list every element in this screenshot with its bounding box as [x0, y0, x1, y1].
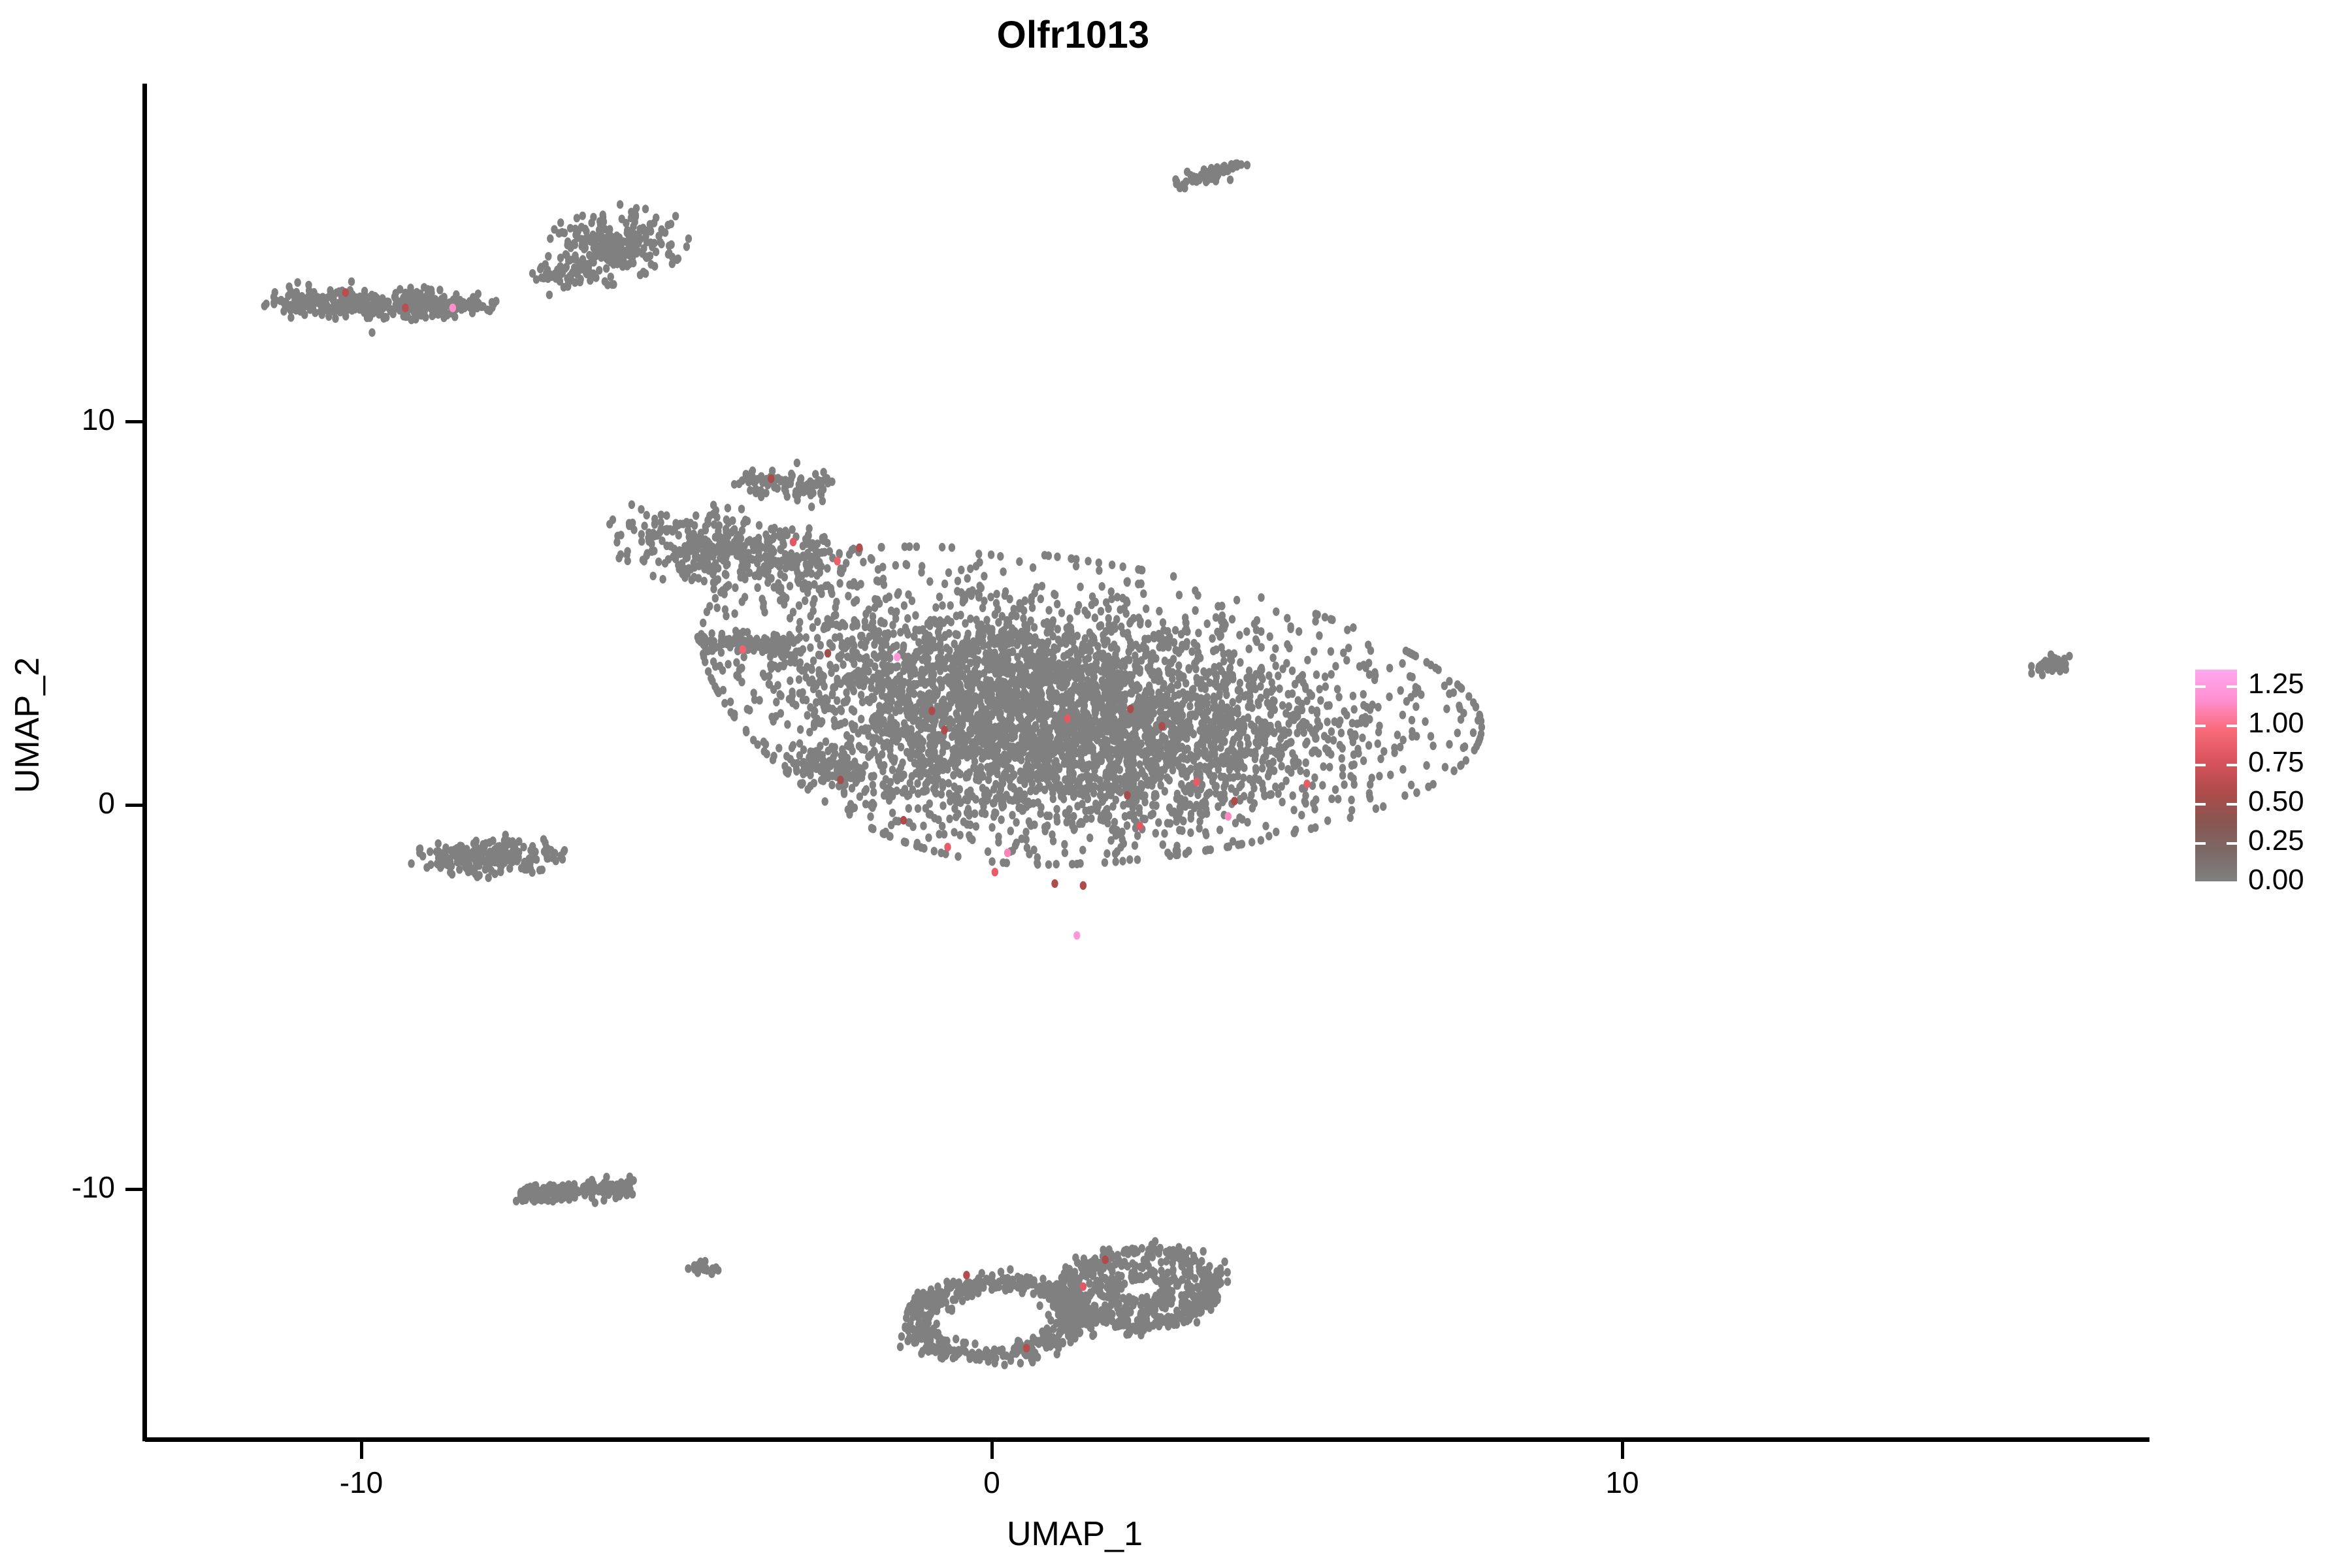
scatter-point: [1016, 557, 1022, 566]
scatter-point: [545, 252, 551, 261]
scatter-point: [533, 275, 540, 284]
scatter-point: [908, 725, 915, 734]
scatter-point: [293, 288, 300, 297]
scatter-point: [1000, 760, 1006, 768]
scatter-point: [939, 822, 945, 830]
scatter-point: [1380, 802, 1386, 811]
scatter-point: [1045, 551, 1052, 560]
scatter-point: [623, 219, 629, 227]
scatter-point: [1425, 783, 1431, 791]
scatter-point: [1375, 703, 1381, 711]
scatter-point: [946, 815, 953, 823]
scatter-point: [1143, 721, 1150, 730]
scatter-point: [922, 696, 928, 705]
scatter-point: [913, 739, 920, 747]
scatter-point: [610, 233, 616, 242]
scatter-point: [1037, 809, 1043, 818]
scatter-point: [1409, 673, 1416, 681]
scatter-point: [733, 658, 740, 666]
scatter-point: [881, 619, 887, 627]
scatter-point: [1113, 796, 1119, 804]
scatter-point: [973, 562, 979, 570]
scatter-point: [608, 272, 614, 281]
scatter-point: [1054, 735, 1060, 743]
scatter-point: [1091, 782, 1098, 791]
scatter-point: [474, 297, 480, 306]
scatter-point: [988, 694, 995, 702]
scatter-point: [1073, 860, 1080, 868]
scatter-point: [900, 644, 907, 653]
scatter-point: [1408, 781, 1414, 789]
scatter-point: [1109, 561, 1115, 569]
scatter-point: [1324, 817, 1331, 825]
scatter-point: [1252, 755, 1258, 763]
scatter-point: [1360, 757, 1367, 765]
scatter-point: [1158, 700, 1164, 708]
scatter-point: [627, 248, 634, 256]
scatter-point: [1185, 664, 1192, 672]
scatter-point: [962, 619, 968, 628]
scatter-point: [1202, 828, 1209, 837]
scatter-point: [919, 655, 926, 664]
scatter-point: [1085, 557, 1091, 565]
scatter-point: [642, 204, 649, 213]
scatter-point: [1326, 763, 1333, 772]
scatter-point: [1235, 841, 1241, 849]
scatter-point: [1157, 708, 1164, 716]
scatter-point: [1243, 627, 1250, 636]
scatter-point: [1279, 701, 1286, 710]
scatter-point: [1000, 858, 1006, 867]
scatter-point: [1155, 677, 1162, 685]
scatter-point: [1134, 658, 1141, 666]
scatter-point: [998, 785, 1004, 794]
scatter-point: [1073, 555, 1079, 564]
scatter-point: [1130, 804, 1136, 812]
scatter-point: [1128, 671, 1135, 679]
scatter-point: [1098, 607, 1104, 615]
scatter-point: [907, 779, 913, 787]
scatter-point: [285, 291, 291, 300]
scatter-point: [949, 544, 955, 552]
scatter-point: [1289, 666, 1296, 675]
scatter-point: [580, 212, 586, 220]
umap-feature-plot: Olfr1013 -10010 100-10 UMAP_1 UMAP_2 1.2…: [0, 0, 2352, 1568]
scatter-point: [892, 708, 899, 716]
scatter-point: [1086, 834, 1093, 842]
scatter-point: [1217, 708, 1223, 717]
scatter-point: [1211, 738, 1218, 747]
scatter-point: [1339, 771, 1346, 779]
scatter-point: [1157, 781, 1164, 789]
scatter-point: [557, 253, 564, 262]
scatter-point: [1121, 672, 1128, 681]
scatter-point: [853, 596, 860, 604]
scatter-point: [1446, 740, 1452, 749]
scatter-point: [1113, 831, 1119, 840]
scatter-point: [581, 261, 587, 269]
scatter-point: [955, 736, 962, 744]
scatter-point: [1175, 661, 1182, 670]
scatter-point: [1103, 849, 1110, 858]
scatter-point: [704, 608, 710, 616]
scatter-point: [955, 577, 961, 585]
scatter-point: [1211, 700, 1218, 709]
scatter-point: [1154, 751, 1161, 759]
scatter-point: [1314, 706, 1320, 715]
scatter-point: [960, 598, 966, 606]
scatter-point: [1050, 632, 1056, 640]
scatter-point: [433, 299, 440, 308]
scatter-point: [865, 667, 872, 676]
scatter-point: [1322, 682, 1329, 691]
scatter-point: [651, 262, 658, 270]
scatter-point: [1177, 797, 1183, 806]
scatter-point: [964, 574, 971, 583]
scatter-point: [790, 741, 796, 749]
scatter-point: [920, 704, 926, 713]
scatter-point: [868, 824, 875, 832]
scatter-point: [1313, 610, 1319, 618]
scatter-point: [1230, 698, 1236, 706]
scatter-point: [1134, 681, 1140, 689]
scatter-point: [1060, 707, 1066, 715]
scatter-point: [921, 787, 928, 796]
scatter-point: [964, 770, 970, 779]
scatter-point: [865, 753, 872, 761]
scatter-point: [1074, 607, 1081, 615]
scatter-point: [1004, 742, 1011, 751]
scatter-point: [1158, 634, 1165, 642]
scatter-point: [972, 694, 979, 702]
scatter-point: [371, 306, 378, 314]
scatter-point: [973, 771, 980, 779]
scatter-point: [1249, 838, 1255, 846]
scatter-point: [1205, 727, 1211, 735]
scatter-point: [925, 834, 932, 842]
scatter-point: [1454, 728, 1461, 737]
scatter-point: [657, 238, 663, 246]
scatter-point: [1034, 583, 1040, 592]
scatter-point: [415, 305, 421, 314]
scatter-point: [931, 616, 938, 625]
scatter-point: [807, 703, 813, 711]
scatter-point: [1103, 777, 1110, 786]
scatter-point: [1334, 685, 1341, 693]
scatter-point: [1196, 708, 1203, 716]
scatter-point: [1007, 714, 1014, 723]
scatter-point: [932, 741, 938, 749]
scatter-point: [895, 685, 902, 694]
scatter-point: [1002, 678, 1008, 687]
scatter-point: [1006, 649, 1013, 657]
scatter-point: [810, 607, 817, 615]
scatter-point: [1034, 853, 1041, 862]
scatter-point: [967, 787, 973, 795]
scatter-point: [772, 662, 778, 670]
scatter-point: [1451, 766, 1458, 775]
scatter-point: [1286, 644, 1292, 652]
scatter-point: [1348, 796, 1354, 804]
scatter-point: [956, 694, 963, 703]
scatter-point: [1043, 640, 1050, 649]
scatter-point: [1045, 648, 1051, 657]
scatter-point: [868, 693, 875, 701]
scatter-point: [1134, 832, 1141, 840]
scatter-point: [1257, 665, 1264, 674]
scatter-point: [672, 212, 679, 220]
scatter-point: [999, 612, 1005, 621]
scatter-point: [1196, 676, 1202, 685]
scatter-point: [1099, 797, 1105, 806]
scatter-point: [1039, 676, 1046, 684]
scatter-point: [1066, 614, 1073, 623]
scatter-point: [357, 301, 364, 309]
scatter-point: [892, 817, 899, 825]
scatter-point: [987, 683, 993, 692]
scatter-point: [1044, 776, 1051, 784]
scatter-point: [326, 305, 333, 314]
scatter-point: [1183, 642, 1190, 650]
scatter-point: [1236, 631, 1243, 640]
scatter-point: [945, 568, 952, 577]
scatter-point: [1186, 711, 1193, 719]
scatter-point: [1401, 791, 1408, 800]
scatter-point: [1422, 717, 1428, 726]
scatter-point: [1204, 700, 1211, 708]
scatter-point: [809, 676, 815, 684]
scatter-point: [893, 642, 900, 650]
scatter-point: [997, 713, 1004, 722]
scatter-point: [819, 717, 825, 726]
scatter-point: [1053, 860, 1060, 868]
scatter-point: [647, 227, 654, 236]
scatter-point: [581, 245, 587, 253]
scatter-point: [1311, 647, 1317, 655]
scatter-point: [1174, 790, 1181, 798]
scatter-point: [1211, 728, 1218, 736]
scatter-point: [1261, 736, 1267, 745]
scatter-point: [1138, 708, 1145, 717]
scatter-point: [596, 233, 603, 241]
scatter-point: [1152, 654, 1159, 662]
scatter-point: [1152, 791, 1159, 800]
scatter-point: [629, 226, 635, 235]
scatter-point: [951, 828, 957, 836]
scatter-point: [1223, 691, 1230, 699]
scatter-point: [1310, 799, 1316, 808]
scatter-point: [287, 313, 294, 321]
scatter-point: [1108, 659, 1115, 667]
scatter-point: [1194, 746, 1200, 755]
scatter-point: [1051, 590, 1057, 598]
scatter-point: [975, 629, 982, 638]
scatter-point: [913, 542, 920, 551]
scatter-point: [1120, 801, 1126, 809]
scatter-point: [1115, 751, 1122, 759]
scatter-point: [956, 831, 963, 840]
scatter-point: [972, 809, 978, 818]
scatter-point: [1298, 721, 1305, 729]
scatter-point: [988, 751, 995, 759]
scatter-point: [551, 225, 557, 234]
scatter-point: [489, 298, 495, 306]
scatter-point: [1362, 664, 1369, 672]
scatter-point: [1215, 602, 1221, 610]
scatter-point: [975, 622, 981, 630]
scatter-point: [1181, 746, 1188, 755]
scatter-point: [1102, 858, 1108, 867]
scatter-point: [1292, 826, 1299, 834]
scatter-point: [1171, 704, 1177, 712]
scatter-point: [1019, 648, 1025, 657]
scatter-point: [904, 748, 910, 757]
scatter-point: [958, 566, 964, 574]
scatter-point: [1470, 728, 1477, 737]
scatter-point: [1332, 785, 1339, 794]
scatter-point: [985, 734, 991, 743]
scatter-point: [1399, 659, 1405, 668]
scatter-point: [882, 668, 889, 677]
scatter-point: [934, 660, 941, 668]
scatter-point: [1252, 764, 1259, 773]
scatter-point: [1275, 789, 1281, 798]
scatter-point: [1224, 708, 1231, 716]
scatter-point: [1032, 721, 1039, 730]
scatter-point: [952, 762, 958, 771]
scatter-point: [1259, 779, 1266, 788]
scatter-point: [1102, 640, 1108, 648]
scatter-point: [928, 678, 935, 687]
scatter-point: [883, 595, 889, 603]
scatter-point: [1296, 627, 1302, 636]
scatter-point: [590, 244, 596, 252]
scatter-point: [787, 614, 793, 623]
scatter-point: [1429, 742, 1436, 750]
scatter-point: [1302, 740, 1309, 748]
scatter-point: [870, 674, 877, 682]
scatter-point: [904, 630, 911, 638]
scatter-point: [987, 765, 993, 774]
scatter-point: [1088, 732, 1095, 741]
scatter-point: [954, 786, 960, 794]
scatter-point: [1247, 795, 1253, 804]
scatter-point: [1207, 845, 1214, 854]
scatter-point: [330, 294, 336, 302]
scatter-point: [1019, 719, 1026, 728]
scatter-point: [1038, 768, 1045, 776]
scatter-point: [1261, 791, 1267, 799]
scatter-point: [1043, 811, 1050, 820]
scatter-point: [1187, 828, 1194, 837]
scatter-point: [1167, 819, 1173, 828]
scatter-point: [1183, 734, 1190, 743]
scatter-point: [1117, 717, 1124, 725]
scatter-point: [710, 657, 717, 666]
scatter-point: [970, 763, 977, 772]
scatter-point: [1230, 674, 1236, 682]
scatter-point: [844, 678, 851, 687]
scatter-point: [990, 799, 996, 808]
scatter-point: [1109, 694, 1115, 703]
scatter-point: [1257, 694, 1264, 702]
scatter-point: [1155, 818, 1162, 826]
scatter-point: [1409, 716, 1415, 725]
scatter-point: [1294, 706, 1300, 714]
scatter-point: [1266, 768, 1273, 777]
scatter-point: [941, 580, 948, 588]
scatter-point: [1084, 610, 1090, 619]
scatter-point: [1093, 717, 1100, 725]
scatter-point: [1196, 824, 1203, 832]
scatter-point: [1160, 618, 1166, 627]
scatter-point: [1442, 763, 1448, 772]
scatter-point: [911, 680, 917, 689]
scatter-point: [921, 645, 927, 653]
scatter-point: [721, 699, 728, 708]
scatter-point: [936, 623, 943, 632]
scatter-point: [1325, 746, 1331, 755]
scatter-point: [578, 235, 585, 244]
scatter-point: [858, 715, 864, 723]
scatter-point: [1400, 736, 1407, 744]
scatter-point: [1276, 685, 1282, 693]
scatter-point: [1255, 715, 1262, 724]
scatter-point: [1028, 821, 1034, 830]
scatter-point: [865, 731, 872, 740]
scatter-point: [1157, 743, 1164, 751]
scatter-point: [1147, 666, 1153, 675]
scatter-point: [1232, 819, 1239, 827]
scatter-point: [1051, 663, 1058, 672]
scatter-point: [313, 293, 319, 302]
scatter-point: [985, 847, 991, 856]
scatter-point: [998, 815, 1004, 824]
scatter-point: [610, 280, 617, 289]
scatter-point: [1202, 708, 1209, 717]
scatter-point: [1067, 625, 1073, 634]
scatter-point: [617, 200, 623, 208]
scatter-point: [1222, 779, 1229, 788]
scatter-point: [280, 298, 287, 306]
scatter-point: [1016, 660, 1022, 668]
scatter-point: [965, 630, 972, 638]
scatter-point: [1099, 676, 1105, 685]
scatter-point: [1123, 630, 1130, 638]
scatter-point: [1403, 647, 1409, 655]
scatter-point: [832, 683, 838, 691]
scatter-point: [1062, 849, 1068, 857]
scatter-point: [912, 611, 919, 619]
scatter-point: [1013, 818, 1019, 826]
scatter-point: [717, 662, 723, 670]
scatter-point: [1217, 826, 1223, 834]
scatter-point: [1124, 578, 1130, 586]
scatter-point: [965, 646, 972, 655]
scatter-point: [881, 580, 887, 589]
scatter-point: [1079, 800, 1085, 808]
scatter-point: [944, 742, 951, 750]
scatter-point: [1071, 645, 1078, 654]
scatter-point: [1351, 780, 1358, 789]
scatter-point: [1275, 672, 1281, 680]
scatter-point: [1043, 732, 1050, 741]
scatter-point: [1348, 761, 1355, 770]
scatter-point: [863, 637, 870, 645]
scatter-point: [1227, 176, 1233, 184]
scatter-point: [603, 254, 610, 263]
scatter-point: [1386, 693, 1392, 701]
